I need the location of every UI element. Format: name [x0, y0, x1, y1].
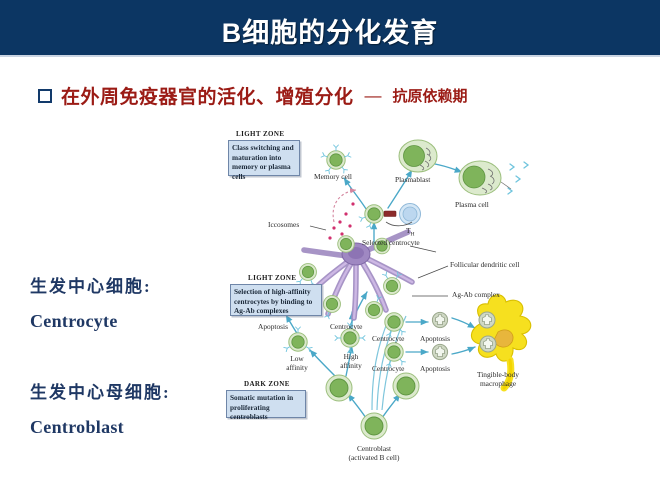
label-plasmablast: Plasmablast	[395, 175, 430, 184]
label-follicular-dendritic-cell: Follicular dendritic cell	[450, 260, 519, 269]
label-high-affinity: High affinity	[338, 352, 364, 371]
bullet-main-text: 在外周免疫器官的活化、增殖分化	[61, 82, 354, 109]
label-centrocyte-2: Centrocyte	[372, 334, 404, 343]
memory-cell-shape	[321, 145, 351, 174]
label-apoptosis-3: Apoptosis	[420, 364, 450, 373]
bullet-sub-text: 抗原依赖期	[393, 85, 468, 106]
label-centrocyte-1: Centrocyte	[330, 322, 362, 331]
zone-title-light-mid: LIGHT ZONE	[248, 274, 296, 282]
selected-centrocyte-shape	[359, 205, 383, 229]
label-ag-ab-complex: Ag-Ab complex	[452, 290, 500, 299]
title-bar-rule	[0, 55, 660, 57]
label-th-subscript: H	[411, 231, 415, 237]
zone-title-dark: DARK ZONE	[244, 380, 290, 388]
label-iccosomes: Iccosomes	[268, 220, 299, 229]
label-low-affinity: Low affinity	[284, 354, 310, 373]
bullet-row: 在外周免疫器官的活化、增殖分化 — 抗原依赖期	[38, 82, 468, 109]
caption-centrocyte-en: Centrocyte	[30, 311, 152, 332]
germinal-center-diagram: LIGHT ZONE Class switching and maturatio…	[222, 126, 642, 464]
caption-centroblast-cn: 生发中心母细胞:	[30, 378, 171, 403]
page-title: B细胞的分化发育	[0, 11, 660, 50]
caption-centrocyte: 生发中心细胞: Centrocyte	[30, 272, 152, 332]
th-cell-shape	[400, 204, 421, 225]
plasmablast-shape	[399, 140, 437, 172]
label-plasma-cell: Plasma cell	[455, 200, 489, 209]
caption-centroblast-en: Centroblast	[30, 417, 171, 438]
label-selected-centrocyte: Selected centrocyte	[362, 238, 420, 247]
caption-centrocyte-cn: 生发中心细胞:	[30, 272, 152, 297]
bullet-dash: —	[363, 86, 384, 106]
label-tingible-body-macrophage: Tingible-body macrophage	[468, 370, 528, 389]
plasma-cell-shape	[459, 161, 528, 195]
slide-root: B细胞的分化发育 在外周免疫器官的活化、增殖分化 — 抗原依赖期 生发中心细胞:…	[0, 0, 660, 480]
caption-centroblast: 生发中心母细胞: Centroblast	[30, 378, 171, 438]
zone-box-dark: Somatic mutation in proliferating centro…	[226, 390, 306, 418]
label-centroblast: Centroblast	[334, 444, 414, 453]
label-memory-cell: Memory cell	[314, 172, 352, 181]
label-centrocyte-3: Centrocyte	[372, 364, 404, 373]
label-centroblast-subtitle: (activated B cell)	[334, 453, 414, 462]
label-apoptosis-2: Apoptosis	[420, 334, 450, 343]
zone-box-light-top: Class switching and maturation into memo…	[228, 140, 300, 176]
title-bar: B细胞的分化发育	[0, 0, 660, 57]
label-apoptosis-1: Apoptosis	[258, 322, 288, 331]
zone-title-light-top: LIGHT ZONE	[236, 130, 284, 138]
square-bullet-icon	[38, 89, 52, 103]
zone-box-light-mid: Selection of high-affinity centrocytes b…	[230, 284, 322, 316]
